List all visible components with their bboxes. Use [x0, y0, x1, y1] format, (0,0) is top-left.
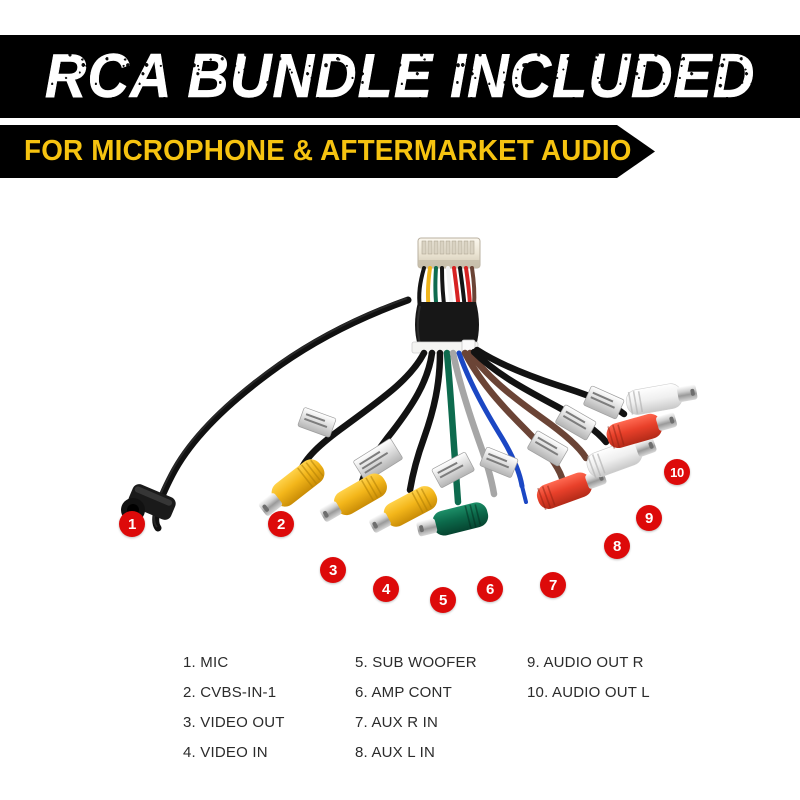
title-banner: RCA BUNDLE INCLUDED	[0, 35, 800, 118]
callout-badge-6: 6	[477, 576, 503, 602]
product-photo	[0, 190, 800, 630]
callout-badge-7: 7	[540, 572, 566, 598]
callout-badge-4: 4	[373, 576, 399, 602]
page-title: RCA BUNDLE INCLUDED	[45, 46, 756, 108]
legend-column-2: 5. SUB WOOFER6. AMP CONT7. AUX R IN8. AU…	[355, 648, 477, 768]
infographic-page: RCA BUNDLE INCLUDED FOR MICROPHONE & AFT…	[0, 0, 800, 800]
harness-illustration	[0, 190, 800, 630]
plug-amp-cont	[522, 486, 526, 502]
legend-item: 10. AUDIO OUT L	[527, 678, 650, 708]
bundle-sheath	[415, 302, 479, 346]
callout-badge-10: 10	[664, 459, 690, 485]
callout-badge-9: 9	[636, 505, 662, 531]
cable-aux-l-in	[470, 353, 586, 458]
legend-item: 8. AUX L IN	[355, 738, 477, 768]
legend-item: 9. AUDIO OUT R	[527, 648, 650, 678]
legend-item: 3. VIDEO OUT	[183, 708, 285, 738]
callout-badge-2: 2	[268, 511, 294, 537]
legend: 1. MIC2. CVBS-IN-13. VIDEO OUT4. VIDEO I…	[0, 648, 800, 788]
legend-column-3: 9. AUDIO OUT R10. AUDIO OUT L	[527, 648, 650, 708]
plug-cvbs-in-1	[255, 455, 329, 521]
legend-item: 6. AMP CONT	[355, 678, 477, 708]
connector-housing	[418, 238, 480, 268]
plug-audio-out-l	[624, 379, 698, 416]
legend-item: 2. CVBS-IN-1	[183, 678, 285, 708]
legend-item: 5. SUB WOOFER	[355, 648, 477, 678]
callout-badge-3: 3	[320, 557, 346, 583]
subtitle-text: FOR MICROPHONE & AFTERMARKET AUDIO	[24, 135, 632, 168]
legend-item: 4. VIDEO IN	[183, 738, 285, 768]
callout-badge-5: 5	[430, 587, 456, 613]
legend-item: 7. AUX R IN	[355, 708, 477, 738]
callout-badge-8: 8	[604, 533, 630, 559]
legend-item: 1. MIC	[183, 648, 285, 678]
subtitle-banner: FOR MICROPHONE & AFTERMARKET AUDIO	[0, 125, 655, 178]
callout-badge-1: 1	[119, 511, 145, 537]
legend-column-1: 1. MIC2. CVBS-IN-13. VIDEO OUT4. VIDEO I…	[183, 648, 285, 768]
cable-labels	[298, 386, 625, 489]
